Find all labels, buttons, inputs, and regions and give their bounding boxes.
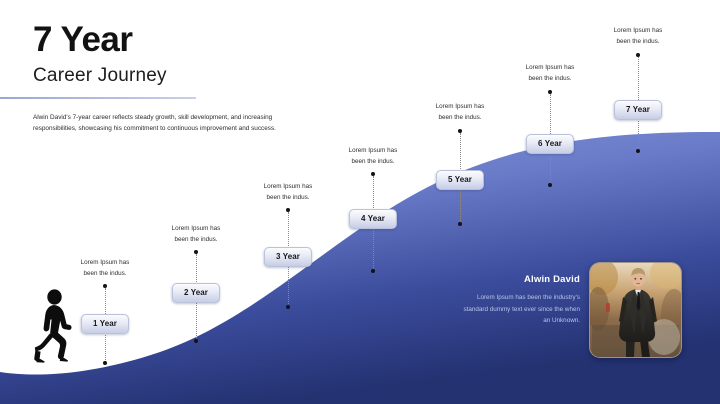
milestone-dot-bottom: [548, 183, 552, 187]
milestone-caption: Lorem Ipsum has been the indus.: [590, 26, 686, 47]
milestone-dot-bottom: [636, 149, 640, 153]
walking-person-icon: [34, 288, 72, 364]
milestone-badge-2[interactable]: 2 Year: [172, 283, 220, 303]
milestone-badge-4[interactable]: 4 Year: [349, 209, 397, 229]
milestone-caption: Lorem Ipsum has been the indus.: [412, 102, 508, 123]
page-title: 7 Year: [33, 22, 333, 59]
milestone-dot-bottom: [194, 339, 198, 343]
milestone-caption: Lorem Ipsum has been the indus.: [502, 63, 598, 84]
profile-description: Lorem Ipsum has been the industry's stan…: [455, 292, 580, 327]
profile-photo: [589, 262, 682, 358]
page-subtitle: Career Journey: [33, 65, 333, 88]
milestone-dot-bottom: [103, 361, 107, 365]
header-divider: [0, 97, 196, 99]
profile-name: Alwin David: [440, 274, 580, 285]
profile-block: Alwin David Lorem Ipsum has been the ind…: [440, 262, 690, 357]
header-block: 7 Year Career Journey: [33, 22, 333, 88]
milestone-dot-bottom: [458, 222, 462, 226]
milestone-badge-6[interactable]: 6 Year: [526, 134, 574, 154]
milestone-badge-1[interactable]: 1 Year: [81, 314, 129, 334]
milestone-caption: Lorem Ipsum has been the indus.: [148, 224, 244, 245]
career-journey-slide: 7 Year Career Journey Alwin David's 7-ye…: [0, 0, 720, 404]
milestone-dot-bottom: [371, 269, 375, 273]
milestone-caption: Lorem Ipsum has been the indus.: [325, 146, 421, 167]
header-description: Alwin David's 7-year career reflects ste…: [33, 112, 288, 134]
milestone-badge-3[interactable]: 3 Year: [264, 247, 312, 267]
milestone-badge-7[interactable]: 7 Year: [614, 100, 662, 120]
milestone-dot-bottom: [286, 305, 290, 309]
milestone-caption: Lorem Ipsum has been the indus.: [240, 182, 336, 203]
milestone-badge-5[interactable]: 5 Year: [436, 170, 484, 190]
milestone-caption: Lorem Ipsum has been the indus.: [57, 258, 153, 279]
